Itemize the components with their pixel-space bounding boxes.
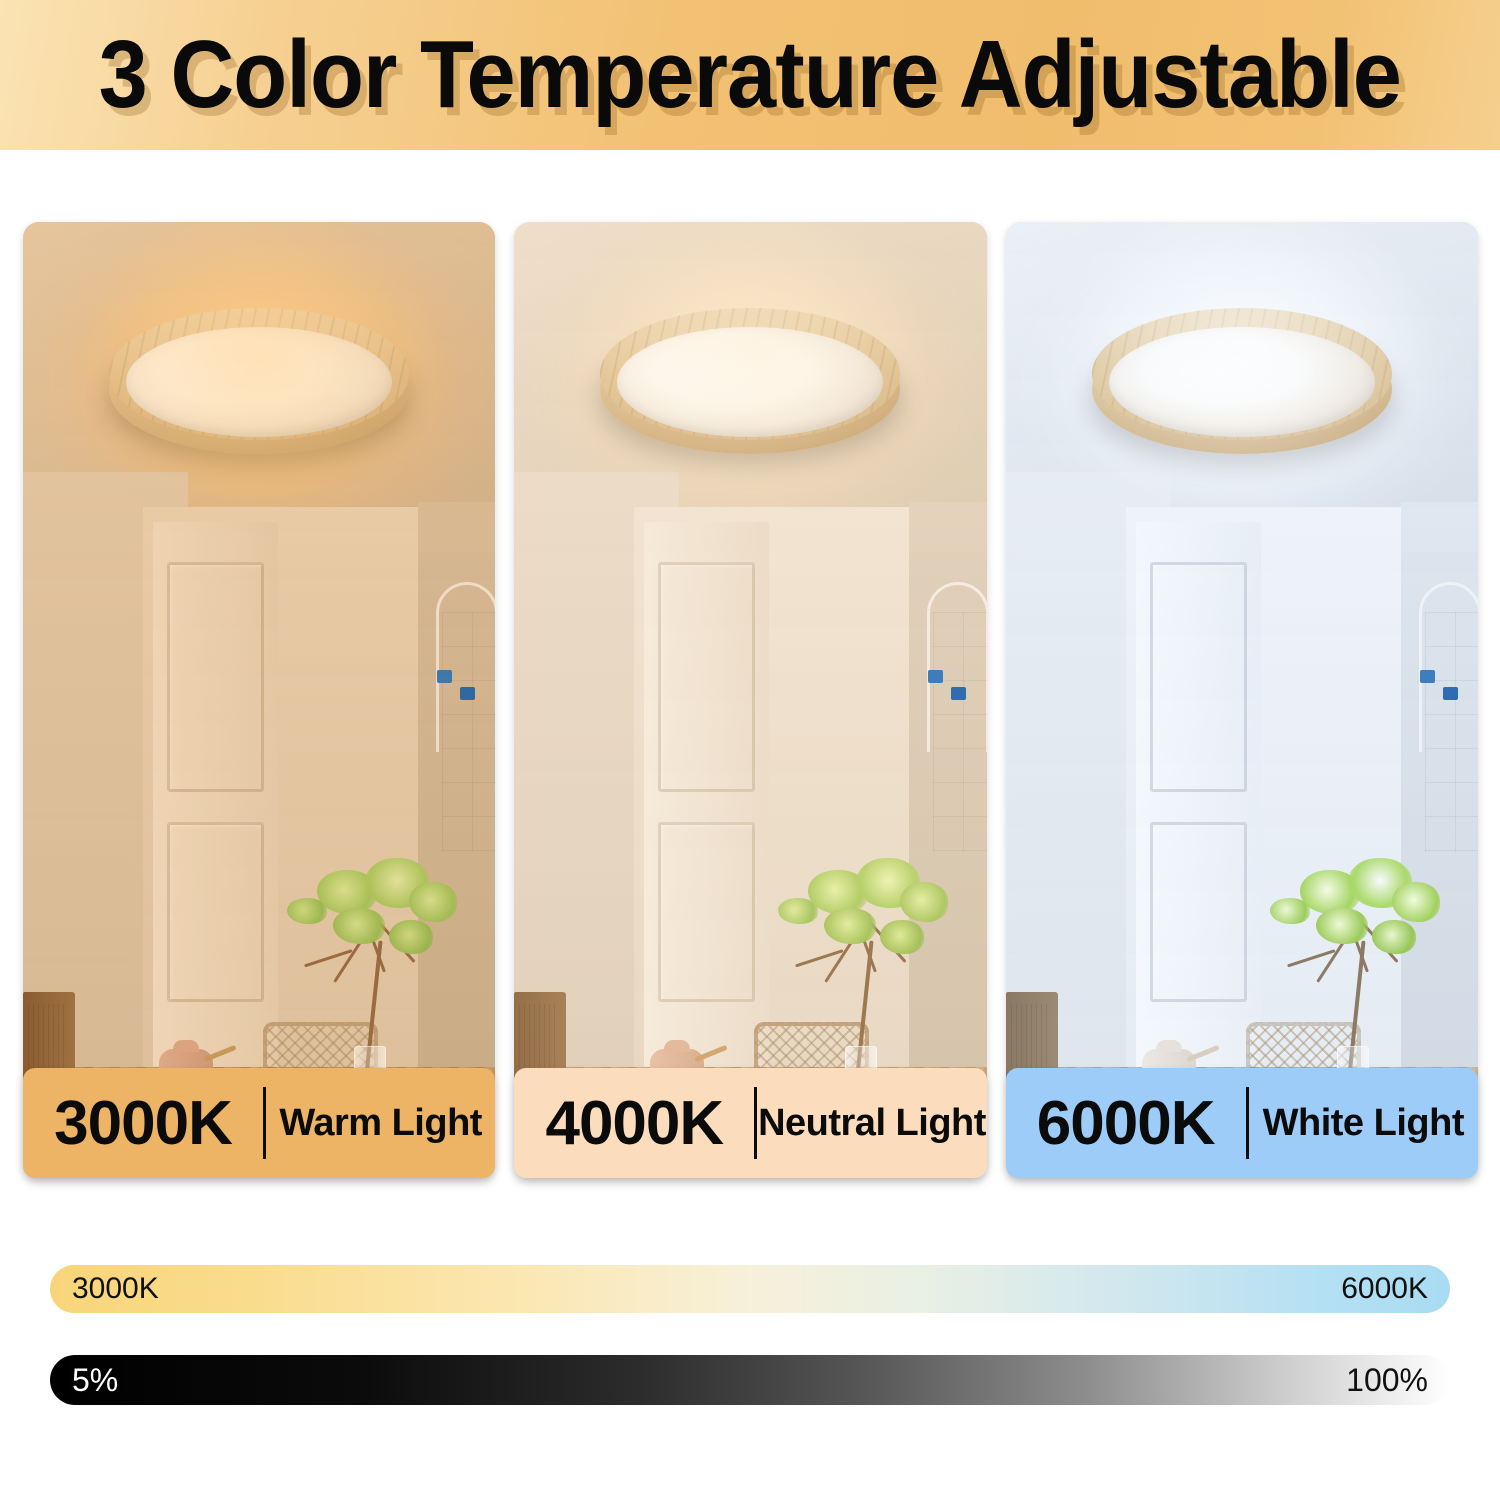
- dimming-min-label: 5%: [72, 1362, 118, 1399]
- room-scene-white: [1006, 222, 1478, 1177]
- room-scene-warm: [23, 222, 495, 1177]
- door-panel-upper: [658, 562, 755, 792]
- page-title: 3 Color Temperature Adjustable: [99, 27, 1401, 123]
- scene-panel-3000k[interactable]: [23, 222, 495, 1177]
- light-name-neutral: Neutral Light: [757, 1102, 986, 1145]
- decorative-branch: [1256, 850, 1446, 1070]
- led-ceiling-light-fixture[interactable]: [1092, 308, 1392, 458]
- door-panel-lower: [658, 822, 755, 1002]
- tile-wall: [442, 612, 495, 852]
- wall-sticker-2: [460, 687, 475, 700]
- wall-sticker-2: [951, 687, 966, 700]
- door-panel-lower: [167, 822, 264, 1002]
- scene-panel-4000k[interactable]: [514, 222, 986, 1177]
- teapot-lid: [1156, 1040, 1182, 1052]
- label-bar-4000k[interactable]: 4000K Neutral Light: [514, 1068, 986, 1178]
- lamp-diffuser: [126, 327, 392, 437]
- room-scene-neutral: [514, 222, 986, 1177]
- lamp-diffuser: [1109, 327, 1375, 437]
- label-bar-6000k[interactable]: 6000K White Light: [1006, 1068, 1478, 1178]
- led-ceiling-light-fixture[interactable]: [109, 308, 409, 458]
- wall-sticker-1: [437, 670, 452, 683]
- wall-sticker-2: [1443, 687, 1458, 700]
- tile-wall: [933, 612, 986, 852]
- door-panel-lower: [1150, 822, 1247, 1002]
- teapot-lid: [664, 1040, 690, 1052]
- decorative-branch: [273, 850, 463, 1070]
- door-panel-upper: [167, 562, 264, 792]
- lamp-diffuser: [617, 327, 883, 437]
- tile-wall: [1425, 612, 1478, 852]
- dimming-max-label: 100%: [1346, 1362, 1428, 1399]
- wall-sticker-1: [1420, 670, 1435, 683]
- scene-panel-6000k[interactable]: [1006, 222, 1478, 1177]
- decorative-branch: [764, 850, 954, 1070]
- color-temperature-scale-bar[interactable]: 3000K 6000K: [50, 1265, 1450, 1313]
- kelvin-value-6000k: 6000K: [1006, 1088, 1246, 1159]
- kelvin-value-4000k: 4000K: [514, 1088, 754, 1159]
- door-panel-upper: [1150, 562, 1247, 792]
- cct-right-label: 6000K: [1341, 1272, 1428, 1306]
- color-temperature-panel-row: [23, 222, 1478, 1177]
- kelvin-value-3000k: 3000K: [23, 1088, 263, 1159]
- teapot-lid: [173, 1040, 199, 1052]
- label-bar-row: 3000K Warm Light 4000K Neutral Light 600…: [23, 1068, 1478, 1178]
- label-bar-3000k[interactable]: 3000K Warm Light: [23, 1068, 495, 1178]
- dimming-scale-bar[interactable]: 5% 100%: [50, 1355, 1450, 1405]
- wall-sticker-1: [928, 670, 943, 683]
- light-name-warm: Warm Light: [266, 1102, 495, 1145]
- cct-left-label: 3000K: [72, 1272, 159, 1306]
- led-ceiling-light-fixture[interactable]: [600, 308, 900, 458]
- header-banner: 3 Color Temperature Adjustable: [0, 0, 1500, 150]
- light-name-white: White Light: [1249, 1102, 1478, 1145]
